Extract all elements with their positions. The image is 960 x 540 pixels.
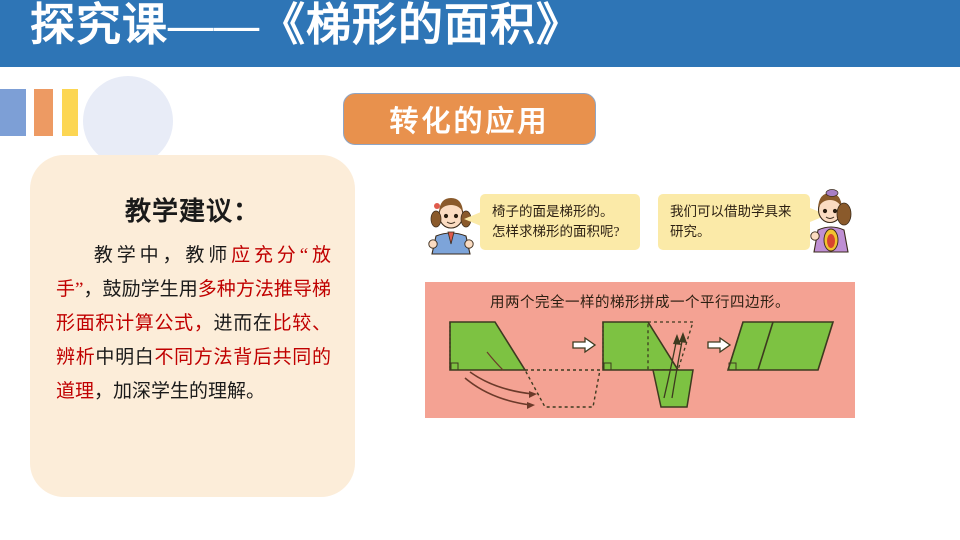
speech-bubble-left: 椅子的面是梯形的。 怎样求梯形的面积呢? bbox=[480, 194, 640, 250]
title-banner: 探究课——《梯形的面积》 bbox=[0, 0, 960, 67]
speech-bubble-right: 我们可以借助学具来 研究。 bbox=[658, 194, 810, 250]
section-pill-label: 转化的应用 bbox=[389, 98, 549, 140]
seg-1: 应充分 bbox=[231, 245, 300, 266]
girl-right-figure bbox=[808, 186, 854, 256]
trapezoid-demo-panel: 用两个完全一样的梯形拼成一个平行四边形。 bbox=[425, 282, 855, 418]
decor-bar-yellow bbox=[62, 89, 78, 136]
bubble-right-line-2: 研究。 bbox=[670, 222, 800, 242]
teaching-advice-card: 教学建议： 教学中，教师应充分“放手”，鼓励学生用多种方法推导梯形面积计算公式，… bbox=[30, 155, 355, 497]
diagram-stage-2 bbox=[603, 322, 693, 407]
diagram-stage-1 bbox=[450, 322, 600, 409]
diagram-arrow-2 bbox=[708, 338, 730, 352]
bubble-right-line-1: 我们可以借助学具来 bbox=[670, 202, 800, 222]
teaching-advice-body: 教学中，教师应充分“放手”，鼓励学生用多种方法推导梯形面积计算公式，进而在比较、… bbox=[56, 239, 331, 409]
seg-0: 教学中，教师 bbox=[90, 245, 231, 266]
textbook-illustration: 椅子的面是梯形的。 怎样求梯形的面积呢? 我们可以借助学具来 研究。 用两个完全… bbox=[420, 178, 860, 423]
seg-5: 进而在 bbox=[214, 313, 273, 334]
bubble-left-tail bbox=[464, 212, 481, 226]
diagram-arrow-1 bbox=[573, 338, 595, 352]
seg-9: ，加深学生的理解。 bbox=[94, 381, 265, 402]
page-title: 探究课——《梯形的面积》 bbox=[30, 0, 582, 53]
panel-caption: 用两个完全一样的梯形拼成一个平行四边形。 bbox=[425, 291, 855, 312]
decor-bar-orange bbox=[34, 89, 53, 136]
bubble-left-line-2: 怎样求梯形的面积呢? bbox=[492, 222, 630, 242]
teaching-advice-heading: 教学建议： bbox=[30, 191, 355, 228]
decor-bar-blue bbox=[0, 89, 26, 136]
bubble-left-line-1: 椅子的面是梯形的。 bbox=[492, 202, 630, 222]
decor-circle bbox=[83, 76, 173, 166]
seg-3: ，鼓励学生用 bbox=[83, 279, 197, 300]
trapezoid-diagram bbox=[425, 312, 855, 417]
diagram-stage-3 bbox=[728, 322, 833, 370]
section-pill[interactable]: 转化的应用 bbox=[343, 93, 596, 145]
girl-left-figure bbox=[428, 192, 474, 262]
slide-root: 探究课——《梯形的面积》 转化的应用 教学建议： 教学中，教师应充分“放手”，鼓… bbox=[0, 0, 960, 540]
seg-7: 中明白 bbox=[95, 347, 154, 368]
